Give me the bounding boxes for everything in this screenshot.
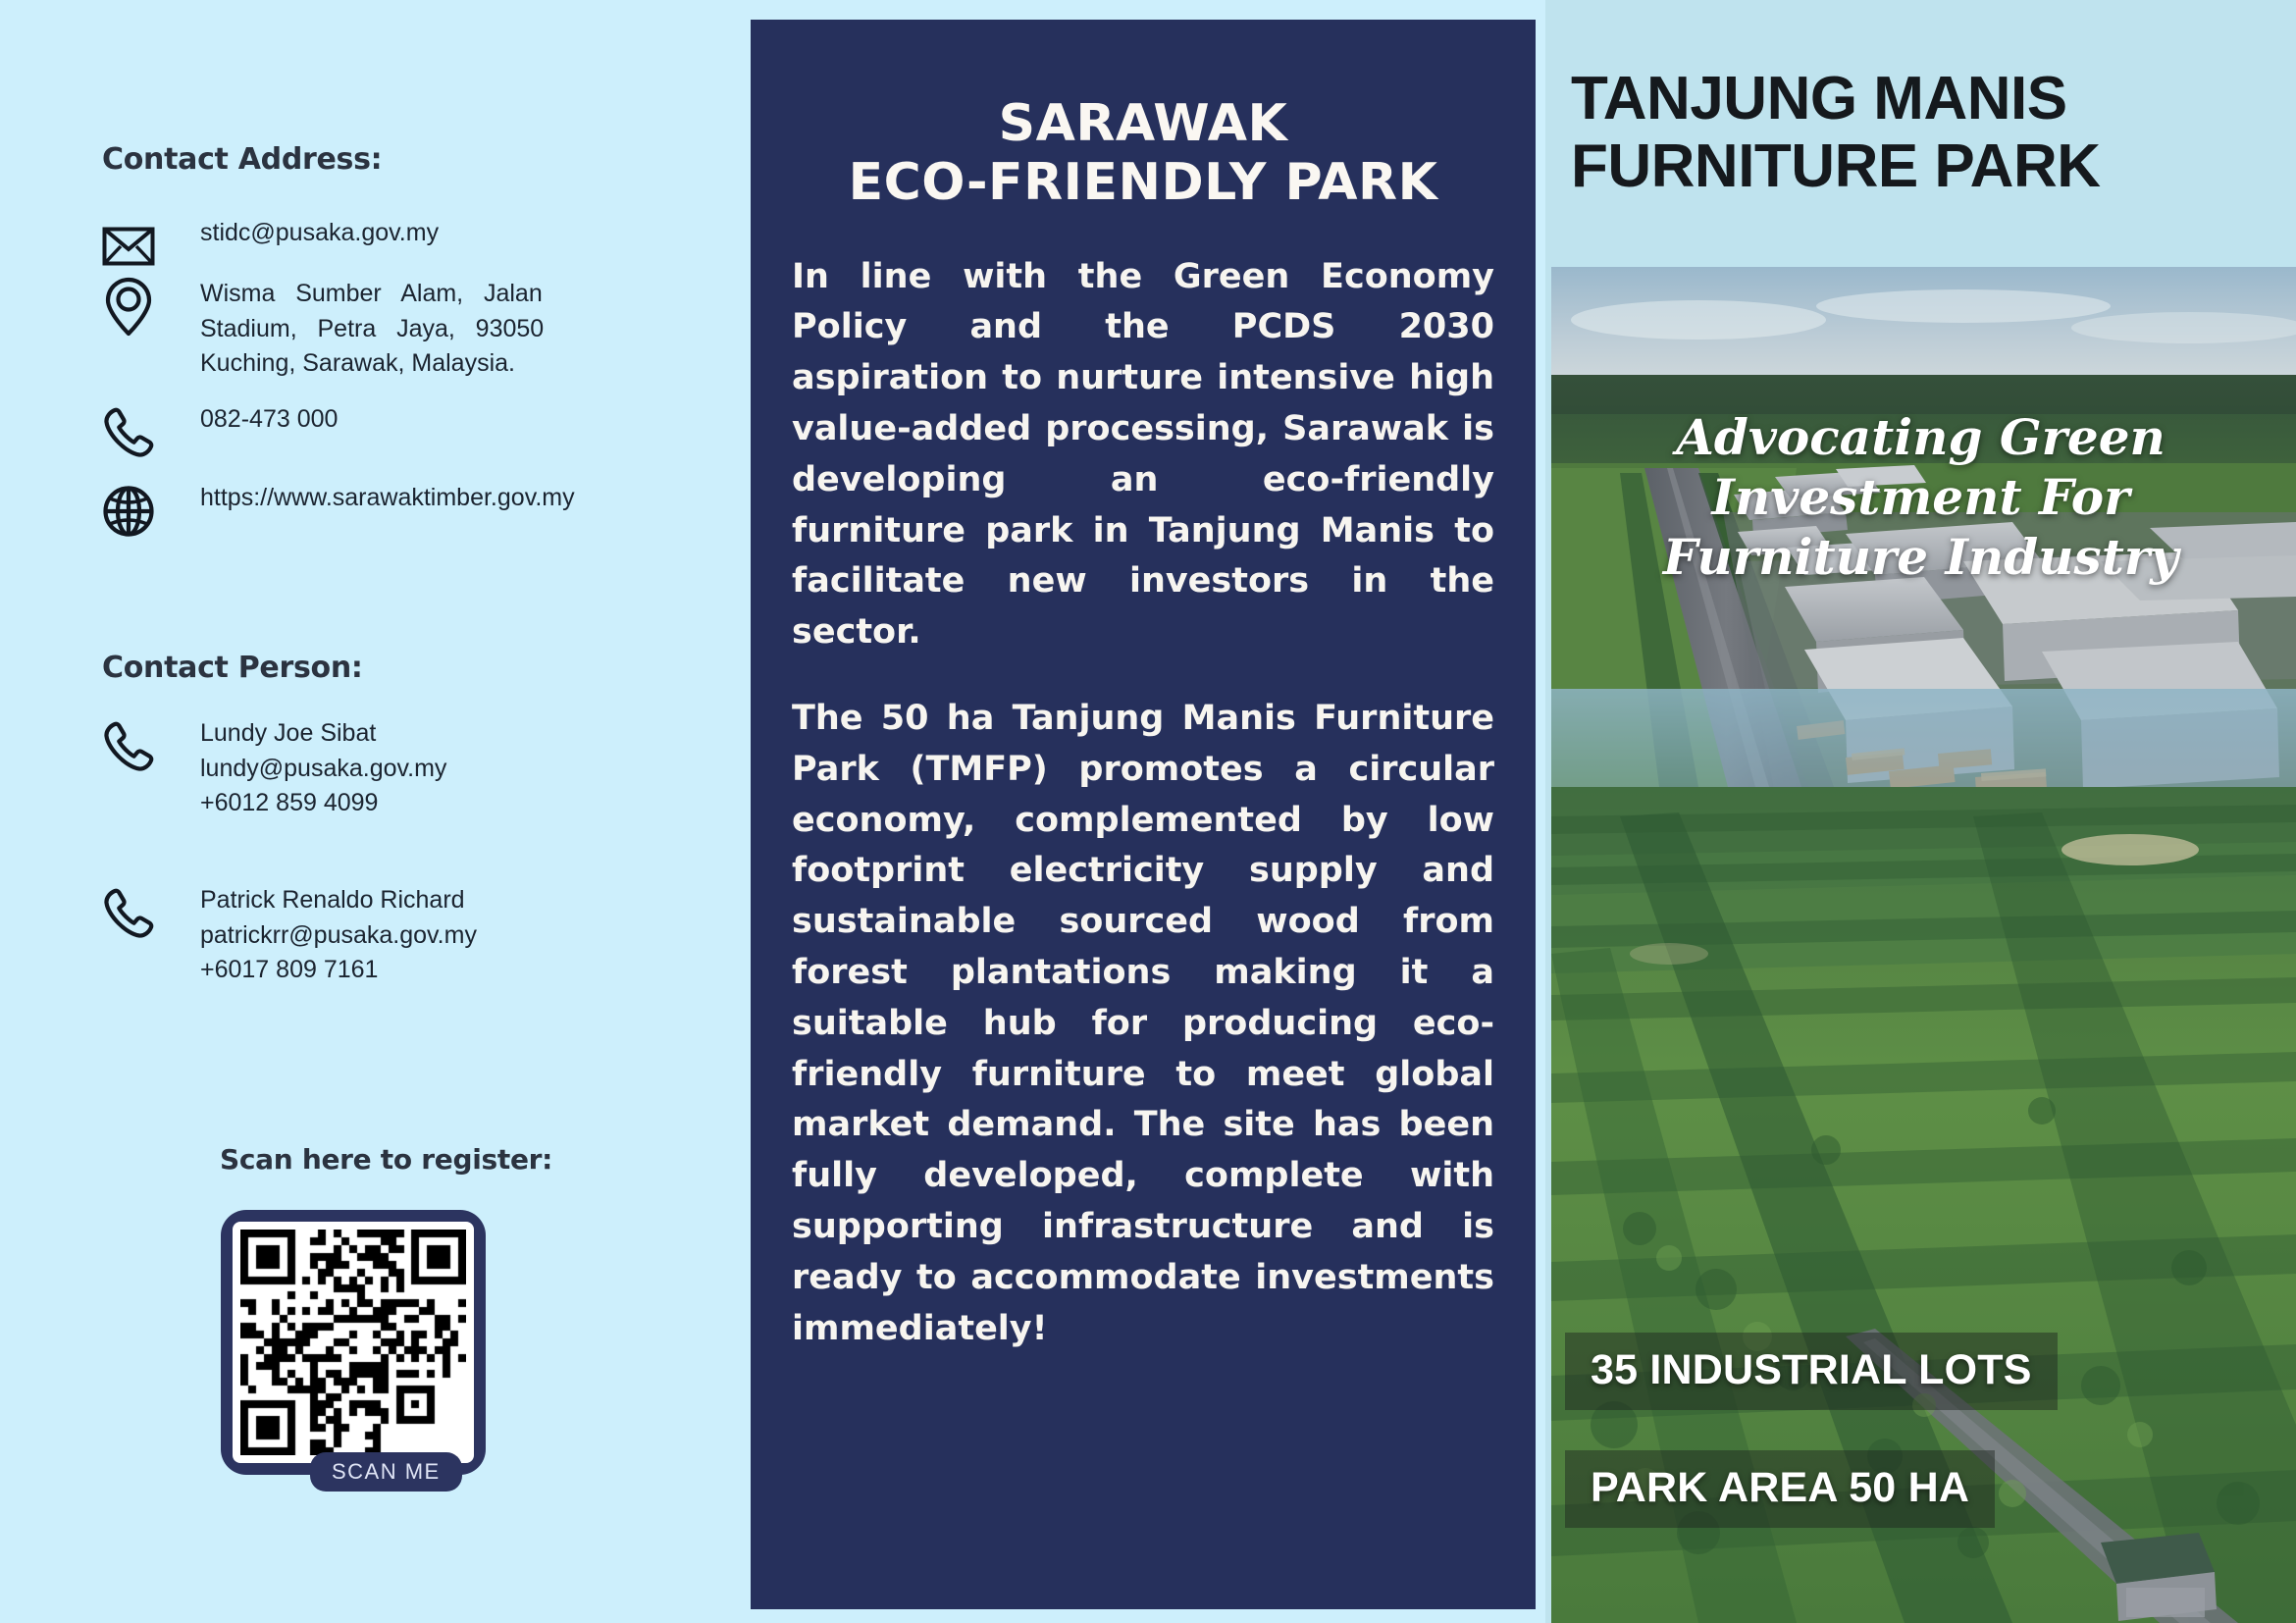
contact-phone-value[interactable]: 082-473 000: [159, 402, 338, 438]
center-title-line-2: ECO-FRIENDLY PARK: [849, 153, 1438, 212]
person-1-email[interactable]: lundy@pusaka.gov.my: [200, 752, 446, 787]
cover-panel-title: TANJUNG MANIS FURNITURE PARK: [1545, 0, 2296, 201]
description-panel: SARAWAK ECO-FRIENDLY PARK In line with t…: [751, 20, 1536, 1609]
phone-icon: [98, 883, 159, 944]
address-line-2: Stadium, Petra Jaya, 93050: [200, 312, 544, 347]
contact-person-1-row: Lundy Joe Sibat lundy@pusaka.gov.my +601…: [98, 716, 446, 821]
contact-panel: Contact Address: stidc@pusaka.gov.my: [0, 0, 751, 1623]
aerial-photo-illustration: [1551, 267, 2296, 1623]
person-1-name: Lundy Joe Sibat: [200, 716, 446, 752]
qr-code-matrix: [240, 1230, 466, 1455]
person-2-email[interactable]: patrickrr@pusaka.gov.my: [200, 918, 477, 954]
contact-person-2-row: Patrick Renaldo Richard patrickrr@pusaka…: [98, 883, 477, 988]
contact-website-row: https://www.sarawaktimber.gov.my: [98, 481, 575, 542]
cover-title-line-2: FURNITURE PARK: [1571, 132, 2101, 200]
globe-icon: [98, 481, 159, 542]
park-area-badge: PARK AREA 50 HA: [1565, 1450, 1995, 1528]
address-line-1: Wisma Sumber Alam, Jalan: [200, 277, 544, 312]
person-1-phone[interactable]: +6012 859 4099: [200, 786, 446, 821]
cover-title-line-1: TANJUNG MANIS: [1571, 65, 2067, 132]
contact-address-row: Wisma Sumber Alam, Jalan Stadium, Petra …: [98, 277, 544, 382]
brochure-page: Contact Address: stidc@pusaka.gov.my: [0, 0, 2296, 1623]
center-panel-title: SARAWAK ECO-FRIENDLY PARK: [792, 20, 1494, 213]
phone-icon: [98, 402, 159, 463]
cover-panel: TANJUNG MANIS FURNITURE PARK: [1545, 0, 2296, 1623]
contact-website-value[interactable]: https://www.sarawaktimber.gov.my: [159, 481, 575, 516]
scan-me-badge: SCAN ME: [310, 1452, 462, 1492]
contact-person-2-details: Patrick Renaldo Richard patrickrr@pusaka…: [159, 883, 477, 988]
address-line-3: Kuching, Sarawak, Malaysia.: [200, 346, 544, 382]
contact-email-row: stidc@pusaka.gov.my: [98, 216, 439, 277]
contact-person-1-details: Lundy Joe Sibat lundy@pusaka.gov.my +601…: [159, 716, 446, 821]
contact-address-heading: Contact Address:: [102, 142, 382, 177]
industrial-lots-badge: 35 INDUSTRIAL LOTS: [1565, 1333, 2058, 1410]
center-paragraph-1: In line with the Green Economy Policy an…: [792, 213, 1494, 658]
scan-register-heading: Scan here to register:: [220, 1143, 552, 1176]
center-title-line-1: SARAWAK: [999, 94, 1288, 153]
phone-icon: [98, 716, 159, 777]
person-2-name: Patrick Renaldo Richard: [200, 883, 477, 918]
qr-code[interactable]: [221, 1210, 486, 1475]
contact-address-value: Wisma Sumber Alam, Jalan Stadium, Petra …: [159, 277, 544, 382]
person-2-phone[interactable]: +6017 809 7161: [200, 953, 477, 988]
qr-code-inner: [233, 1222, 474, 1463]
center-paragraph-2: The 50 ha Tanjung Manis Furniture Park (…: [792, 658, 1494, 1354]
envelope-icon: [98, 216, 159, 277]
contact-phone-row: 082-473 000: [98, 402, 338, 463]
aerial-photo: [1551, 267, 2296, 1623]
contact-person-heading: Contact Person:: [102, 651, 363, 685]
contact-email-value[interactable]: stidc@pusaka.gov.my: [159, 216, 439, 251]
map-pin-icon: [98, 277, 159, 338]
